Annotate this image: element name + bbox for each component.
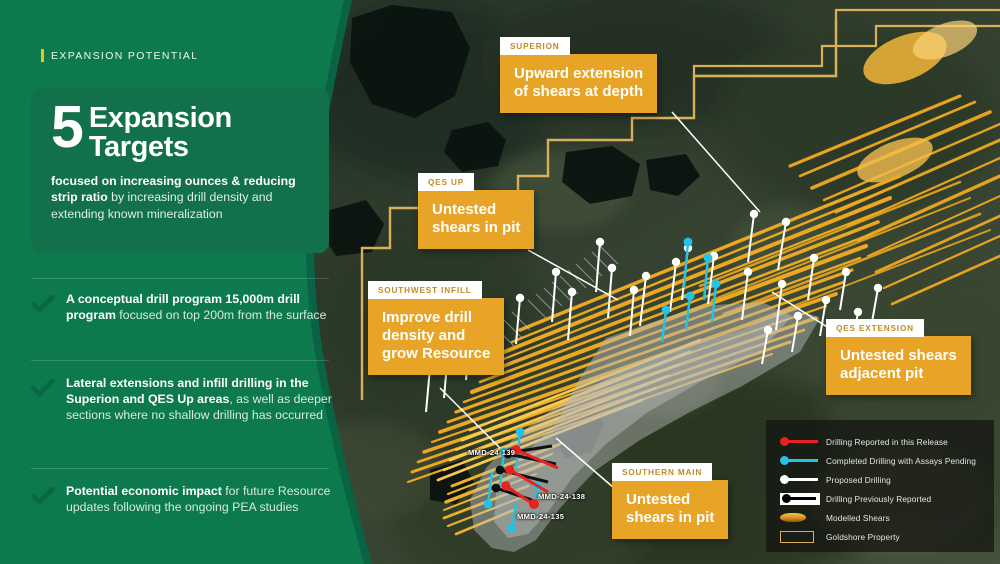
eyebrow-label: EXPANSION POTENTIAL bbox=[51, 50, 198, 62]
callout-southern-main-line2: shears in pit bbox=[626, 509, 714, 527]
bullet-text-3: Potential economic impact for future Res… bbox=[66, 484, 333, 516]
callout-superion-line1: Upward extension bbox=[514, 65, 643, 83]
legend-label-proposed: Proposed Drilling bbox=[826, 475, 891, 485]
callout-southwest-infill-line2: density and bbox=[382, 327, 490, 345]
callout-qes-up[interactable]: QES UP Untested shears in pit bbox=[418, 172, 534, 249]
drill-label-1: MMD-24-139 bbox=[468, 448, 515, 457]
shear-swatch-icon bbox=[780, 513, 826, 522]
red-collar-line-icon bbox=[780, 437, 826, 446]
check-icon bbox=[31, 484, 55, 516]
callout-qes-extension-line2: adjacent pit bbox=[840, 365, 957, 383]
legend-row-pending: Completed Drilling with Assays Pending bbox=[780, 451, 980, 470]
callout-qes-extension-line1: Untested shears bbox=[840, 347, 957, 365]
map-legend: Drilling Reported in this Release Comple… bbox=[766, 420, 994, 552]
hero-word-targets: Targets bbox=[89, 133, 232, 162]
callout-southwest-infill-tag: SOUTHWEST INFILL bbox=[368, 281, 482, 299]
legend-row-release: Drilling Reported in this Release bbox=[780, 432, 980, 451]
slide-root: EXPANSION POTENTIAL 5 Expansion Targets … bbox=[0, 0, 1000, 564]
legend-row-property: Goldshore Property bbox=[780, 527, 980, 546]
bullet-item-3: Potential economic impact for future Res… bbox=[31, 484, 333, 516]
white-collar-line-icon bbox=[780, 475, 826, 484]
callout-superion-body: Upward extension of shears at depth bbox=[500, 54, 657, 113]
legend-label-release: Drilling Reported in this Release bbox=[826, 437, 948, 447]
bullet-item-1: A conceptual drill program 15,000m drill… bbox=[31, 292, 333, 324]
legend-row-shears: Modelled Shears bbox=[780, 508, 980, 527]
callout-qes-extension[interactable]: QES EXTENSION Untested shears adjacent p… bbox=[826, 318, 971, 395]
callout-southwest-infill[interactable]: SOUTHWEST INFILL Improve drill density a… bbox=[368, 280, 504, 375]
callout-superion-tag: SUPERION bbox=[500, 37, 570, 55]
callout-southwest-infill-line3: grow Resource bbox=[382, 345, 490, 363]
callout-superion[interactable]: SUPERION Upward extension of shears at d… bbox=[500, 36, 657, 113]
eyebrow-bar-icon bbox=[41, 49, 44, 62]
eyebrow: EXPANSION POTENTIAL bbox=[41, 49, 198, 62]
callout-qes-extension-tag: QES EXTENSION bbox=[826, 319, 924, 337]
cyan-collar-line-icon bbox=[780, 456, 826, 465]
property-outline-icon bbox=[780, 531, 826, 543]
bullet-text-2: Lateral extensions and infill drilling i… bbox=[66, 376, 333, 423]
divider-3 bbox=[31, 468, 329, 469]
hero-number: 5 bbox=[51, 102, 82, 153]
callout-superion-line2: of shears at depth bbox=[514, 83, 643, 101]
bullet-1-rest: focused on top 200m from the surface bbox=[116, 308, 327, 322]
callout-southern-main-line1: Untested bbox=[626, 491, 714, 509]
callout-qes-up-line1: Untested bbox=[432, 201, 520, 219]
hero-subtitle: focused on increasing ounces & reducing … bbox=[51, 173, 309, 222]
legend-label-shears: Modelled Shears bbox=[826, 513, 890, 523]
hero-word-expansion: Expansion bbox=[89, 104, 232, 133]
legend-label-previous: Drilling Previously Reported bbox=[826, 494, 931, 504]
check-icon bbox=[31, 292, 55, 324]
check-icon bbox=[31, 376, 55, 423]
legend-label-pending: Completed Drilling with Assays Pending bbox=[826, 456, 976, 466]
callout-southern-main-tag: SOUTHERN MAIN bbox=[612, 463, 712, 481]
hero-card: 5 Expansion Targets focused on increasin… bbox=[31, 88, 329, 253]
bullet-3-bold: Potential economic impact bbox=[66, 484, 222, 498]
legend-row-previous: Drilling Previously Reported bbox=[780, 489, 980, 508]
bullet-item-2: Lateral extensions and infill drilling i… bbox=[31, 376, 333, 423]
black-collar-line-icon bbox=[780, 493, 826, 505]
callout-southwest-infill-body: Improve drill density and grow Resource bbox=[368, 298, 504, 375]
callout-southern-main-body: Untested shears in pit bbox=[612, 480, 728, 539]
legend-row-proposed: Proposed Drilling bbox=[780, 470, 980, 489]
drill-label-3: MMD-24-135 bbox=[517, 512, 564, 521]
legend-label-property: Goldshore Property bbox=[826, 532, 900, 542]
callout-qes-up-tag: QES UP bbox=[418, 173, 474, 191]
callout-qes-extension-body: Untested shears adjacent pit bbox=[826, 336, 971, 395]
callout-qes-up-body: Untested shears in pit bbox=[418, 190, 534, 249]
bullet-text-1: A conceptual drill program 15,000m drill… bbox=[66, 292, 333, 324]
drill-label-2: MMD-24-138 bbox=[538, 492, 585, 501]
divider-1 bbox=[31, 278, 329, 279]
callout-qes-up-line2: shears in pit bbox=[432, 219, 520, 237]
callout-southwest-infill-line1: Improve drill bbox=[382, 309, 490, 327]
callout-southern-main[interactable]: SOUTHERN MAIN Untested shears in pit bbox=[612, 462, 728, 539]
divider-2 bbox=[31, 360, 329, 361]
